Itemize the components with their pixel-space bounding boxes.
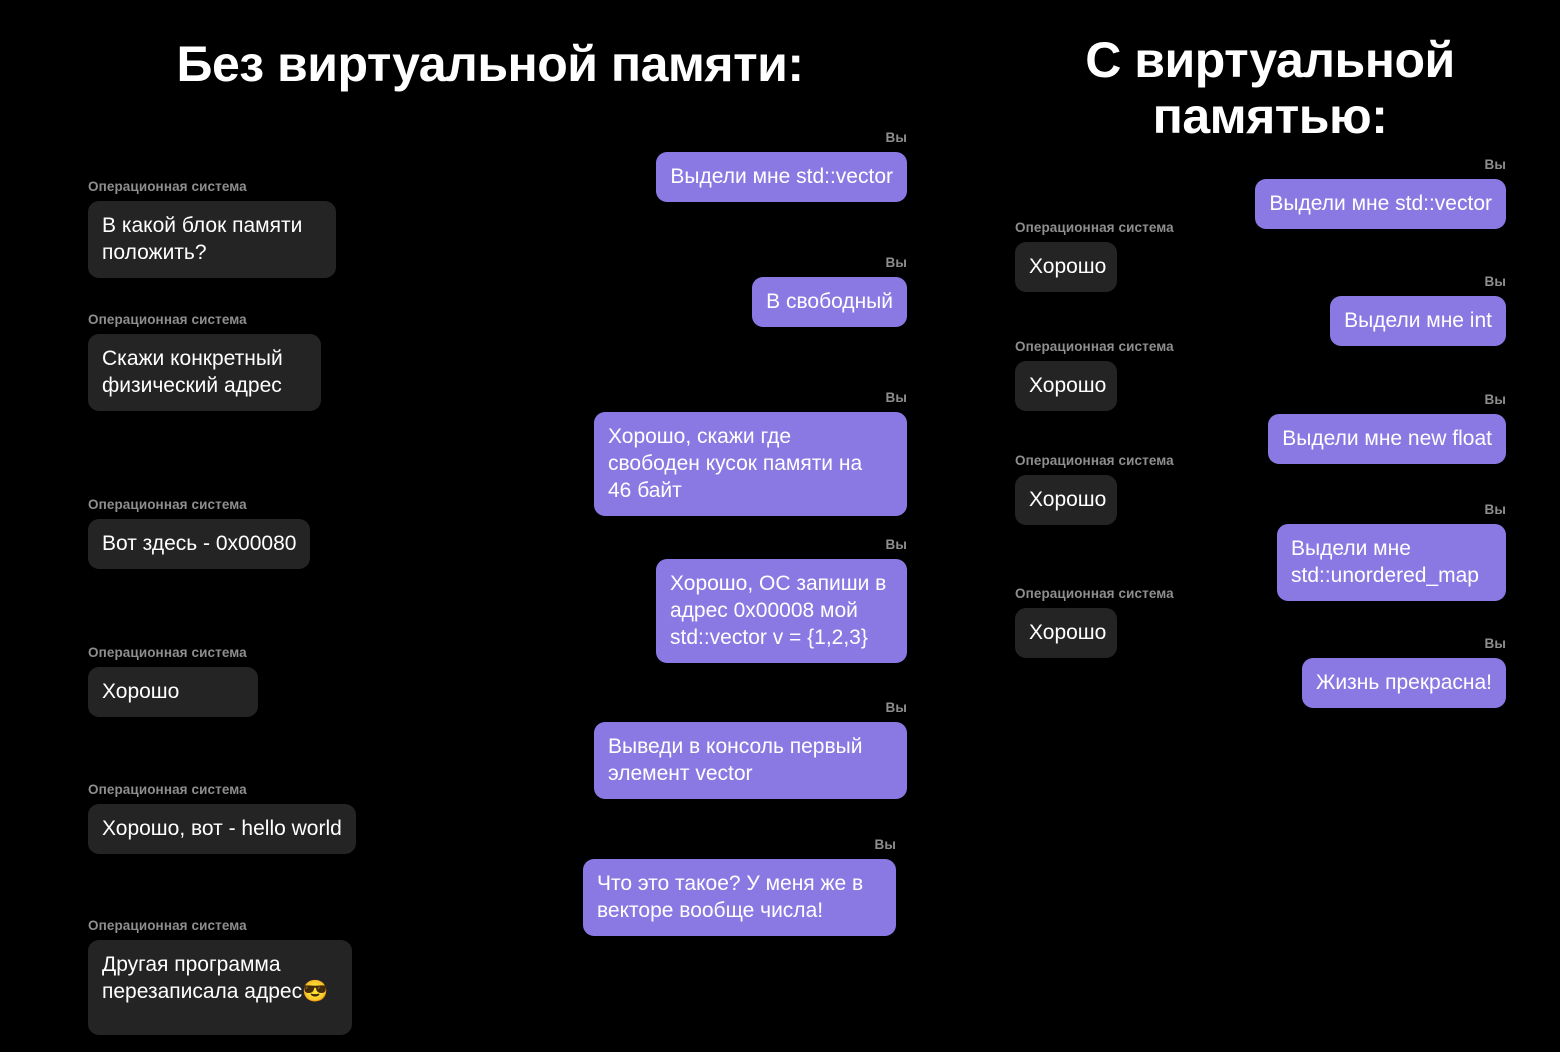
message-group: Вы Хорошо, ОС запиши в адрес 0x00008 мой… (656, 538, 907, 663)
panel-title-without-virtual-memory: Без виртуальной памяти: (40, 36, 940, 92)
message-sender-label: Вы (1260, 637, 1506, 651)
message-group: Вы Выдели мне new float (1220, 393, 1506, 464)
message-sender-label: Вы (583, 838, 896, 852)
message-group: Вы Выдели мне std::unordered_map (1277, 503, 1506, 601)
message-bubble[interactable]: Выдели мне std::vector (656, 152, 907, 202)
message-bubble[interactable]: Выдели мне std::unordered_map (1277, 524, 1506, 601)
message-bubble[interactable]: Хорошо, скажи где свободен кусок памяти … (594, 412, 907, 516)
message-bubble[interactable]: В какой блок памяти положить? (88, 201, 336, 278)
message-group: Операционная система Хорошо (1015, 221, 1117, 292)
message-bubble[interactable]: В свободный (752, 277, 907, 327)
message-group: Вы В свободный (620, 256, 907, 327)
message-sender-label: Операционная система (88, 783, 370, 797)
message-bubble[interactable]: Хорошо (1015, 242, 1117, 292)
message-sender-label: Вы (1240, 275, 1506, 289)
message-sender-label: Операционная система (1015, 340, 1117, 354)
message-group: Операционная система Другая программа пе… (88, 919, 352, 1035)
message-group: Вы Что это такое? У меня же в векторе во… (583, 838, 896, 936)
message-group: Операционная система Скажи конкретный фи… (88, 313, 333, 411)
message-group: Вы Хорошо, скажи где свободен кусок памя… (594, 391, 907, 516)
message-bubble[interactable]: Хорошо, вот - hello world (88, 804, 356, 854)
message-group: Операционная система Хорошо (88, 646, 258, 717)
message-sender-label: Операционная система (88, 646, 258, 660)
message-bubble[interactable]: Скажи конкретный физический адрес (88, 334, 321, 411)
message-group: Вы Выведи в консоль первый элемент vecto… (594, 701, 907, 799)
message-bubble[interactable]: Выведи в консоль первый элемент vector (594, 722, 907, 799)
message-group: Операционная система Вот здесь - 0x00080 (88, 498, 337, 569)
message-bubble[interactable]: Хорошо (1015, 475, 1117, 525)
message-group: Операционная система Хорошо, вот - hello… (88, 783, 370, 854)
message-sender-label: Операционная система (88, 180, 348, 194)
message-group: Вы Выдели мне int (1240, 275, 1506, 346)
message-bubble[interactable]: Жизнь прекрасна! (1302, 658, 1506, 708)
message-sender-label: Вы (620, 256, 907, 270)
message-sender-label: Операционная система (1015, 221, 1117, 235)
message-sender-label: Операционная система (1015, 454, 1117, 468)
message-bubble[interactable]: Вот здесь - 0x00080 (88, 519, 310, 569)
message-bubble[interactable]: Выдели мне int (1330, 296, 1506, 346)
message-sender-label: Вы (656, 538, 907, 552)
message-group: Вы Выдели мне std::vector (1200, 158, 1506, 229)
message-sender-label: Операционная система (88, 498, 337, 512)
message-bubble[interactable]: Выдели мне new float (1268, 414, 1506, 464)
message-bubble[interactable]: Что это такое? У меня же в векторе вообщ… (583, 859, 896, 936)
message-sender-label: Вы (1200, 158, 1506, 172)
message-sender-label: Операционная система (88, 313, 333, 327)
message-bubble[interactable]: Хорошо (1015, 608, 1117, 658)
message-bubble[interactable]: Хорошо (1015, 361, 1117, 411)
message-sender-label: Вы (1277, 503, 1506, 517)
message-bubble[interactable]: Другая программа перезаписала адрес😎 (88, 940, 352, 1035)
message-group: Операционная система Хорошо (1015, 340, 1117, 411)
message-sender-label: Вы (594, 701, 907, 715)
panel-without-virtual-memory: Без виртуальной памяти: Операционная сис… (0, 0, 980, 1052)
message-group: Операционная система В какой блок памяти… (88, 180, 348, 278)
message-bubble[interactable]: Хорошо (88, 667, 258, 717)
message-group: Операционная система Хорошо (1015, 454, 1117, 525)
message-sender-label: Вы (600, 131, 907, 145)
message-group: Операционная система Хорошо (1015, 587, 1117, 658)
panel-with-virtual-memory: С виртуальной памятью: Вы Выдели мне std… (980, 0, 1560, 1052)
message-group: Вы Выдели мне std::vector (600, 131, 907, 202)
message-bubble[interactable]: Выдели мне std::vector (1255, 179, 1506, 229)
message-sender-label: Вы (594, 391, 907, 405)
message-sender-label: Вы (1220, 393, 1506, 407)
message-sender-label: Операционная система (88, 919, 352, 933)
panel-title-with-virtual-memory: С виртуальной памятью: (1000, 32, 1540, 144)
message-group: Вы Жизнь прекрасна! (1260, 637, 1506, 708)
message-bubble[interactable]: Хорошо, ОС запиши в адрес 0x00008 мой st… (656, 559, 907, 663)
message-sender-label: Операционная система (1015, 587, 1117, 601)
